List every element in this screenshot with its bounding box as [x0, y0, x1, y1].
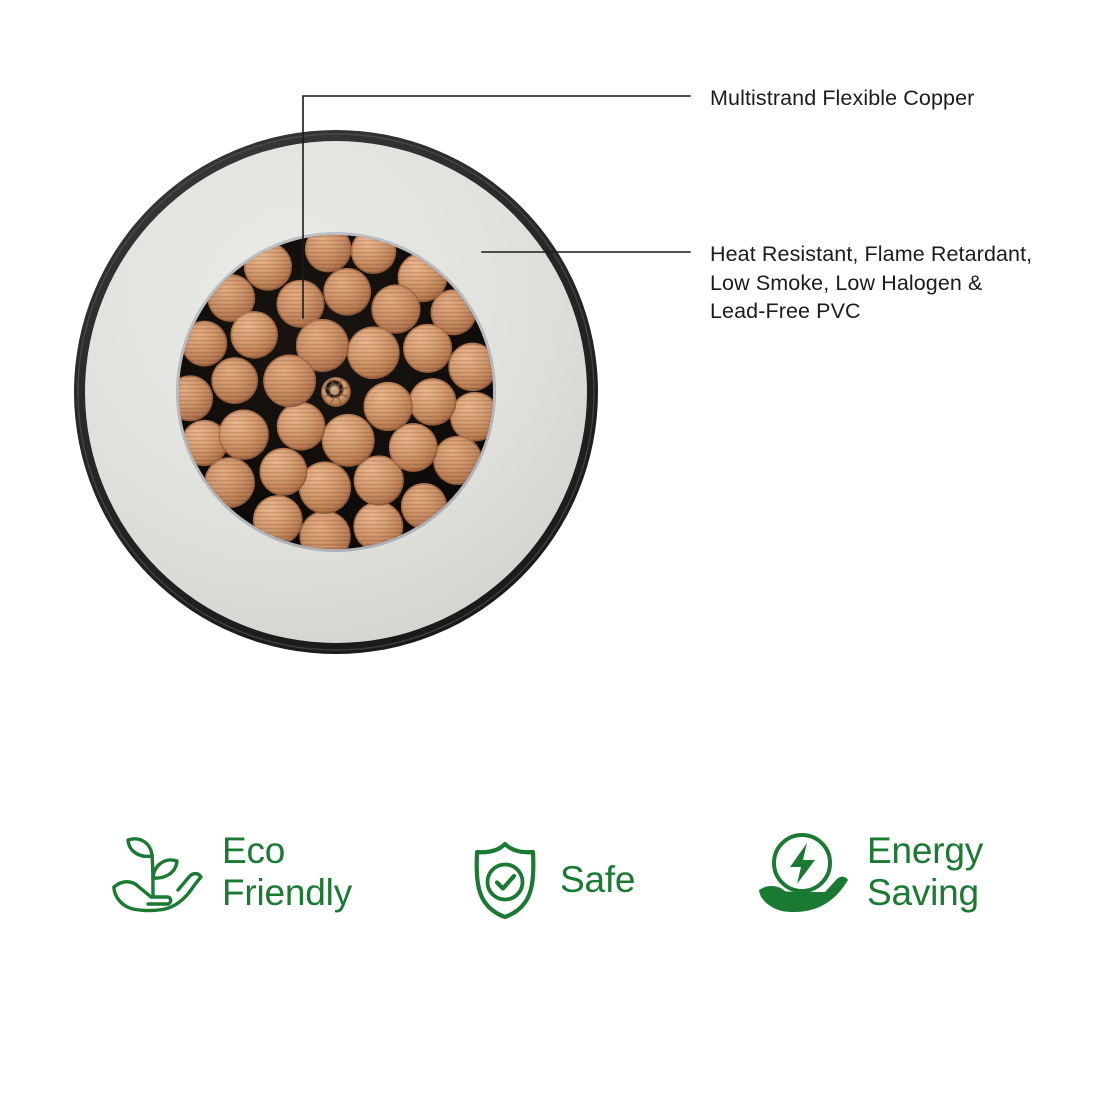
hand-sprout-icon — [112, 830, 204, 914]
feature-safe: Safe — [468, 840, 635, 920]
shield-check-icon — [468, 840, 542, 920]
feature-eco-friendly: Eco Friendly — [112, 830, 352, 914]
feature-energy-saving: Energy Saving — [757, 830, 983, 914]
copper-strand — [230, 311, 277, 358]
copper-strand-center — [321, 377, 351, 407]
copper-strand — [389, 423, 438, 472]
hand-lightning-icon — [757, 830, 849, 914]
copper-strand — [277, 402, 326, 451]
copper-strand — [364, 382, 413, 431]
copper-strand — [263, 354, 316, 407]
copper-strand — [409, 378, 456, 425]
cable-diagram-stage: Multistrand Flexible Copper Heat Resista… — [0, 0, 1100, 1100]
callout-label-copper: Multistrand Flexible Copper — [710, 84, 974, 113]
copper-strand — [260, 448, 308, 496]
feature-energy-saving-label: Energy Saving — [867, 830, 983, 914]
copper-strand — [219, 410, 269, 460]
copper-strand — [347, 327, 400, 380]
feature-badges: Eco Friendly Safe Energy Saving — [0, 818, 1100, 938]
copper-strand — [323, 268, 371, 316]
feature-eco-friendly-label: Eco Friendly — [222, 830, 352, 914]
copper-strand — [211, 357, 258, 404]
copper-strand — [371, 285, 420, 334]
copper-strand — [322, 414, 375, 467]
feature-safe-label: Safe — [560, 856, 635, 904]
copper-strand — [403, 324, 452, 373]
callout-label-pvc: Heat Resistant, Flame Retardant, Low Smo… — [710, 240, 1032, 326]
